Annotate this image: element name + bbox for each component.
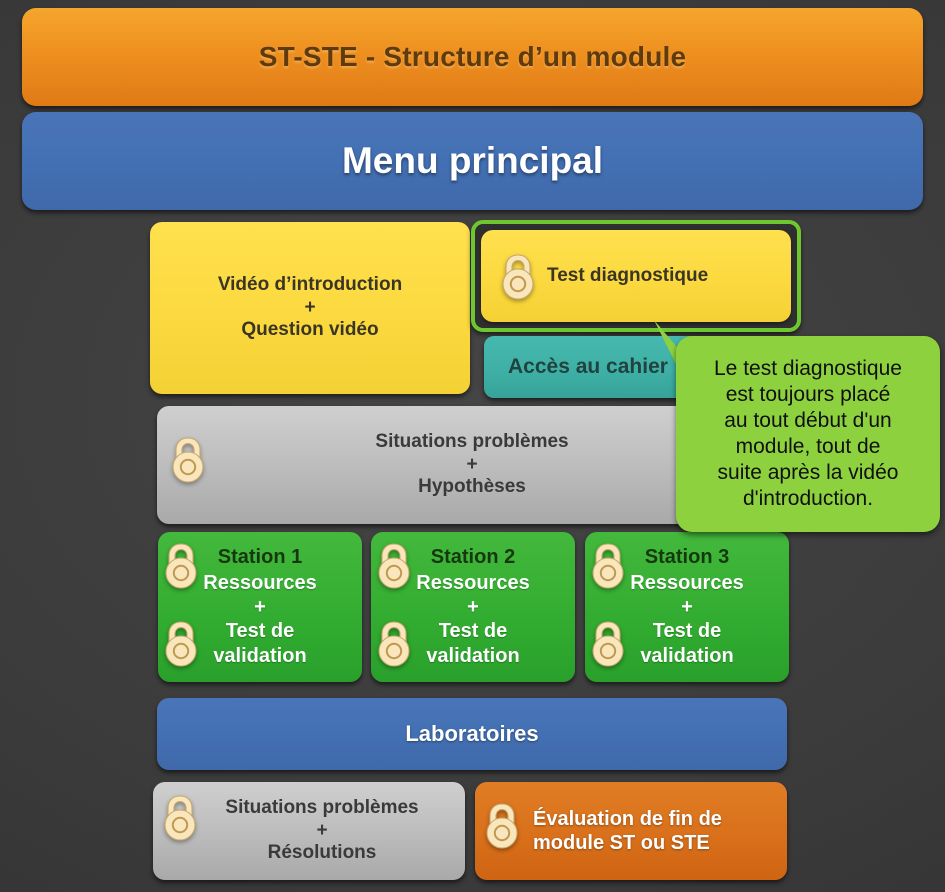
situations-resolutions-label: Situations problèmes + Résolutions xyxy=(199,797,418,864)
sit-hyp-line-1: Situations problèmes xyxy=(375,431,568,452)
station-line-4: validation xyxy=(640,645,733,667)
callout-line-4: module, tout de xyxy=(736,435,881,458)
station-line-2: + xyxy=(681,596,693,618)
padlock-icon xyxy=(587,618,629,668)
sit-hyp-line-2: + xyxy=(466,454,477,475)
callout-line-6: d'introduction. xyxy=(743,487,873,510)
test-diagnostique-card[interactable]: Test diagnostique xyxy=(481,230,791,322)
station-line-3: Test de xyxy=(653,620,722,642)
callout-line-1: Le test diagnostique xyxy=(714,357,902,380)
station-title: Station 2 xyxy=(431,546,515,570)
station-line-3: Test de xyxy=(226,620,295,642)
station-title: Station 3 xyxy=(645,546,729,570)
callout-line-2: est toujours placé xyxy=(726,383,891,406)
station-body: Ressources + Test de validation xyxy=(416,571,529,669)
padlock-icon xyxy=(159,792,201,842)
station-line-1: Ressources xyxy=(203,572,316,594)
menu-principal-label: Menu principal xyxy=(342,139,603,183)
callout-text: Le test diagnostique est toujours placé … xyxy=(702,356,914,512)
padlock-icon xyxy=(160,540,202,590)
sit-res-line-3: Résolutions xyxy=(268,842,377,863)
padlock-icon xyxy=(160,618,202,668)
page-title: ST-STE - Structure d’un module xyxy=(259,40,687,73)
station-line-4: validation xyxy=(426,645,519,667)
eval-line-2: module ST ou STE xyxy=(533,832,710,854)
station-line-1: Ressources xyxy=(630,572,743,594)
video-line-1: Vidéo d’introduction xyxy=(218,274,402,295)
padlock-icon xyxy=(167,434,209,484)
eval-line-1: Évaluation de fin de xyxy=(533,808,722,830)
laboratoires-label: Laboratoires xyxy=(405,721,538,747)
station-3-card[interactable]: Station 3 Ressources + Test de validatio… xyxy=(585,532,789,682)
situations-resolutions-card[interactable]: Situations problèmes + Résolutions xyxy=(153,782,465,880)
sit-hyp-line-3: Hypothèses xyxy=(418,476,526,497)
callout-line-5: suite après la vidéo xyxy=(718,461,899,484)
station-2-card[interactable]: Station 2 Ressources + Test de validatio… xyxy=(371,532,575,682)
padlock-icon xyxy=(373,540,415,590)
slide-canvas: ST-STE - Structure d’un module Menu prin… xyxy=(0,0,945,892)
callout-line-3: au tout début d'un xyxy=(724,409,892,432)
video-line-2: + xyxy=(304,297,315,318)
laboratoires-card[interactable]: Laboratoires xyxy=(157,698,787,770)
situations-hypotheses-label: Situations problèmes + Hypothèses xyxy=(375,431,568,498)
station-line-2: + xyxy=(467,596,479,618)
station-title: Station 1 xyxy=(218,546,302,570)
video-introduction-card[interactable]: Vidéo d’introduction + Question vidéo xyxy=(150,222,470,394)
station-body: Ressources + Test de validation xyxy=(203,571,316,669)
sit-res-line-1: Situations problèmes xyxy=(225,797,418,818)
sit-res-line-2: + xyxy=(316,820,327,841)
station-1-card[interactable]: Station 1 Ressources + Test de validatio… xyxy=(158,532,362,682)
station-line-4: validation xyxy=(213,645,306,667)
test-diagnostique-label: Test diagnostique xyxy=(547,265,708,287)
padlock-icon xyxy=(587,540,629,590)
station-line-2: + xyxy=(254,596,266,618)
padlock-icon xyxy=(497,251,539,301)
video-line-3: Question vidéo xyxy=(241,319,378,340)
padlock-icon xyxy=(373,618,415,668)
evaluation-label: Évaluation de fin de module ST ou STE xyxy=(533,807,722,855)
video-introduction-label: Vidéo d’introduction + Question vidéo xyxy=(208,274,412,341)
padlock-icon xyxy=(481,800,523,850)
station-body: Ressources + Test de validation xyxy=(630,571,743,669)
callout-tooltip: Le test diagnostique est toujours placé … xyxy=(676,336,940,532)
slide-title-bar: ST-STE - Structure d’un module xyxy=(22,8,923,106)
station-line-3: Test de xyxy=(439,620,508,642)
station-line-1: Ressources xyxy=(416,572,529,594)
evaluation-fin-module-card[interactable]: Évaluation de fin de module ST ou STE xyxy=(475,782,787,880)
menu-principal-bar[interactable]: Menu principal xyxy=(22,112,923,210)
